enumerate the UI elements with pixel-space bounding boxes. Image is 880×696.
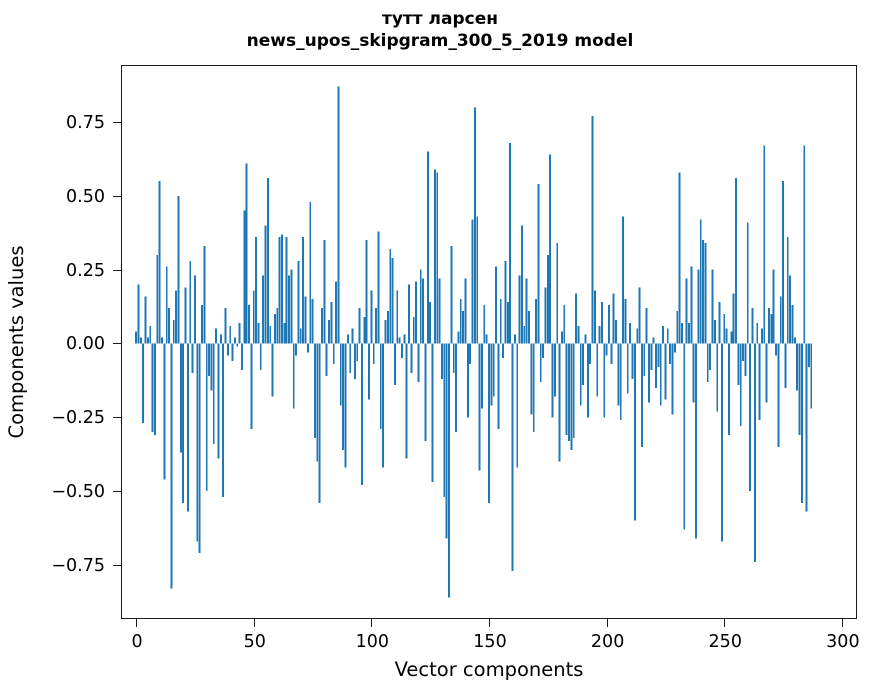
x-tick-label-0: 0 bbox=[132, 632, 143, 652]
y-tick-1: −0.50 bbox=[113, 491, 122, 492]
y-tick-label-2: −0.25 bbox=[51, 408, 105, 428]
x-tick-label-1: 50 bbox=[244, 632, 266, 652]
y-tick-6: 0.75 bbox=[113, 122, 122, 123]
matplotlib-figure: тутт ларсен news_upos_skipgram_300_5_201… bbox=[0, 0, 880, 696]
y-tick-label-6: 0.75 bbox=[66, 113, 105, 133]
y-tick-label-5: 0.50 bbox=[66, 187, 105, 207]
bar-series bbox=[122, 66, 856, 618]
x-tick-label-2: 100 bbox=[356, 632, 389, 652]
x-tick-label-5: 250 bbox=[709, 632, 742, 652]
x-tick-6: 300 bbox=[842, 618, 843, 627]
chart-title: тутт ларсен news_upos_skipgram_300_5_201… bbox=[0, 8, 880, 52]
x-tick-label-6: 300 bbox=[826, 632, 859, 652]
y-tick-3: 0.00 bbox=[113, 343, 122, 344]
x-tick-0: 0 bbox=[136, 618, 137, 627]
y-axis-label: Components values bbox=[4, 65, 30, 619]
x-tick-1: 50 bbox=[254, 618, 255, 627]
x-axis-label: Vector components bbox=[121, 658, 857, 681]
chart-title-line-1: тутт ларсен bbox=[0, 8, 880, 30]
y-tick-4: 0.25 bbox=[113, 270, 122, 271]
y-tick-2: −0.25 bbox=[113, 417, 122, 418]
chart-title-line-2: news_upos_skipgram_300_5_2019 model bbox=[0, 30, 880, 52]
plot-area bbox=[122, 66, 856, 618]
y-tick-label-0: −0.75 bbox=[51, 556, 105, 576]
y-tick-label-4: 0.25 bbox=[66, 261, 105, 281]
y-tick-5: 0.50 bbox=[113, 196, 122, 197]
y-tick-label-1: −0.50 bbox=[51, 482, 105, 502]
x-tick-4: 200 bbox=[607, 618, 608, 627]
x-tick-3: 150 bbox=[489, 618, 490, 627]
x-tick-label-3: 150 bbox=[473, 632, 506, 652]
x-tick-5: 250 bbox=[724, 618, 725, 627]
y-tick-label-3: 0.00 bbox=[66, 334, 105, 354]
x-tick-label-4: 200 bbox=[591, 632, 624, 652]
y-tick-0: −0.75 bbox=[113, 565, 122, 566]
plot-axes: −0.75−0.50−0.250.000.250.500.75050100150… bbox=[121, 65, 857, 619]
x-tick-2: 100 bbox=[371, 618, 372, 627]
